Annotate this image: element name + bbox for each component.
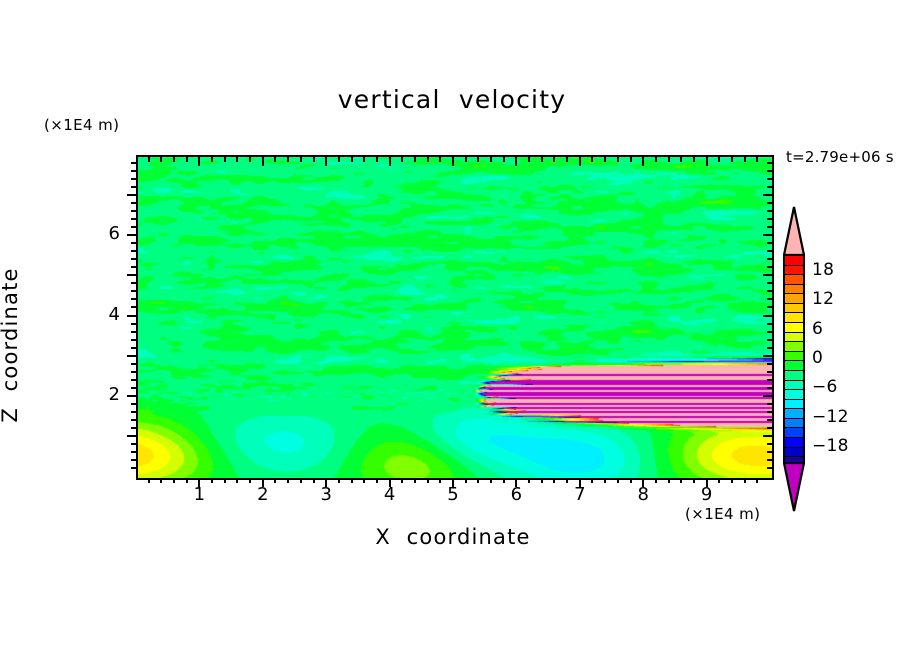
y-tick-minor xyxy=(131,306,136,308)
x-tick-top-minor xyxy=(693,157,695,162)
y-tick-right-minor xyxy=(767,387,772,389)
x-tick-top-minor xyxy=(630,157,632,162)
x-tick-top-minor xyxy=(274,157,276,162)
x-tick-top-major xyxy=(198,157,200,166)
y-tick-minor xyxy=(131,387,136,389)
y-tick-minor xyxy=(131,250,136,252)
x-tick-minor xyxy=(351,478,353,483)
x-tick-minor xyxy=(617,478,619,483)
y-tick-minor xyxy=(131,411,136,413)
x-tick-top-minor xyxy=(528,157,530,162)
page-title: vertical velocity xyxy=(0,85,904,114)
y-tick-minor xyxy=(131,347,136,349)
x-axis-unit-label: (×1E4 m) xyxy=(685,505,760,523)
colorbar-band xyxy=(785,342,803,352)
y-tick-right-minor xyxy=(767,170,772,172)
colorbar-band xyxy=(785,428,803,438)
y-tick-right-minor xyxy=(767,331,772,333)
y-tick-minor xyxy=(131,178,136,180)
colorbar xyxy=(783,206,805,512)
y-tick-right-minor xyxy=(767,178,772,180)
colorbar-band xyxy=(785,285,803,295)
y-tick-minor xyxy=(131,419,136,421)
x-tick-top-minor xyxy=(236,157,238,162)
y-tick-right-major xyxy=(763,274,772,276)
x-tick-minor xyxy=(148,478,150,483)
x-tick-top-minor xyxy=(477,157,479,162)
y-tick-right-minor xyxy=(767,306,772,308)
colorbar-ticklabel: 18 xyxy=(812,260,834,280)
y-tick-right-major xyxy=(763,435,772,437)
colorbar-ticklabel: −6 xyxy=(812,377,838,397)
y-tick-minor xyxy=(131,218,136,220)
x-tick-minor xyxy=(668,478,670,483)
y-tick-right-minor xyxy=(767,443,772,445)
x-tick-top-minor xyxy=(604,157,606,162)
colorbar-ticklabel: −18 xyxy=(812,436,849,456)
y-tick-major xyxy=(127,234,136,236)
y-ticklabel: 6 xyxy=(88,223,120,244)
y-tick-minor xyxy=(131,242,136,244)
colorbar-ticklabel: 12 xyxy=(812,289,834,309)
x-tick-top-minor xyxy=(503,157,505,162)
x-tick-top-minor xyxy=(731,157,733,162)
x-tick-top-major xyxy=(515,157,517,166)
contour-field-canvas xyxy=(138,157,772,478)
x-tick-top-major xyxy=(262,157,264,166)
x-tick-top-minor xyxy=(249,157,251,162)
y-tick-right-major xyxy=(763,234,772,236)
colorbar-band xyxy=(785,448,803,458)
x-tick-top-minor xyxy=(148,157,150,162)
x-tick-top-major xyxy=(389,157,391,166)
x-tick-top-minor xyxy=(401,157,403,162)
x-tick-minor xyxy=(591,478,593,483)
x-tick-top-major xyxy=(642,157,644,166)
x-tick-minor xyxy=(528,478,530,483)
x-tick-minor xyxy=(363,478,365,483)
y-tick-major xyxy=(127,395,136,397)
y-tick-right-minor xyxy=(767,250,772,252)
x-ticklabel: 6 xyxy=(496,484,536,505)
x-tick-top-major xyxy=(579,157,581,166)
y-tick-minor xyxy=(131,170,136,172)
x-tick-top-minor xyxy=(211,157,213,162)
x-tick-minor xyxy=(211,478,213,483)
colorbar-under-arrow-icon xyxy=(783,462,805,512)
y-tick-minor xyxy=(131,451,136,453)
x-tick-top-minor xyxy=(376,157,378,162)
x-tick-minor xyxy=(490,478,492,483)
colorbar-ticklabel: 0 xyxy=(812,348,823,368)
x-ticklabel: 8 xyxy=(623,484,663,505)
x-tick-minor xyxy=(477,478,479,483)
colorbar-band xyxy=(785,371,803,381)
y-ticklabel: 4 xyxy=(88,304,120,325)
x-ticklabel: 2 xyxy=(243,484,283,505)
y-tick-right-minor xyxy=(767,258,772,260)
colorbar-band xyxy=(785,266,803,276)
x-ticklabel: 5 xyxy=(433,484,473,505)
x-tick-minor xyxy=(427,478,429,483)
y-tick-right-major xyxy=(763,194,772,196)
x-tick-top-minor xyxy=(541,157,543,162)
x-tick-minor xyxy=(313,478,315,483)
colorbar-band xyxy=(785,438,803,448)
y-tick-right-minor xyxy=(767,202,772,204)
x-ticklabel: 9 xyxy=(687,484,727,505)
y-tick-major xyxy=(127,194,136,196)
x-tick-minor xyxy=(680,478,682,483)
x-tick-top-minor xyxy=(173,157,175,162)
x-tick-minor xyxy=(566,478,568,483)
x-tick-top-minor xyxy=(224,157,226,162)
y-tick-minor xyxy=(131,298,136,300)
x-tick-top-minor xyxy=(553,157,555,162)
y-tick-minor xyxy=(131,339,136,341)
colorbar-band xyxy=(785,313,803,323)
x-tick-top-minor xyxy=(490,157,492,162)
y-tick-right-minor xyxy=(767,451,772,453)
colorbar-band xyxy=(785,381,803,391)
y-tick-major xyxy=(127,435,136,437)
y-tick-minor xyxy=(131,162,136,164)
x-tick-minor xyxy=(604,478,606,483)
x-tick-minor xyxy=(338,478,340,483)
time-annotation: t=2.79e+06 s xyxy=(786,148,894,166)
colorbar-band xyxy=(785,390,803,400)
x-tick-minor xyxy=(300,478,302,483)
y-tick-right-minor xyxy=(767,266,772,268)
y-tick-minor xyxy=(131,459,136,461)
y-tick-minor xyxy=(131,467,136,469)
colorbar-band xyxy=(785,409,803,419)
y-tick-right-minor xyxy=(767,339,772,341)
y-tick-minor xyxy=(131,371,136,373)
y-tick-right-minor xyxy=(767,427,772,429)
x-tick-top-minor xyxy=(465,157,467,162)
y-tick-minor xyxy=(131,443,136,445)
x-tick-minor xyxy=(376,478,378,483)
colorbar-over-arrow-icon xyxy=(783,206,805,256)
y-tick-right-minor xyxy=(767,403,772,405)
x-tick-top-minor xyxy=(566,157,568,162)
y-tick-minor xyxy=(131,226,136,228)
x-tick-top-minor xyxy=(668,157,670,162)
plot-area xyxy=(136,155,774,480)
y-tick-right-minor xyxy=(767,242,772,244)
x-tick-minor xyxy=(274,478,276,483)
colorbar-band xyxy=(785,275,803,285)
x-tick-top-minor xyxy=(414,157,416,162)
x-tick-top-minor xyxy=(363,157,365,162)
x-ticklabel: 3 xyxy=(306,484,346,505)
y-tick-right-minor xyxy=(767,162,772,164)
y-tick-right-minor xyxy=(767,371,772,373)
y-axis-unit-label: (×1E4 m) xyxy=(44,116,119,134)
y-tick-minor xyxy=(131,290,136,292)
x-tick-top-minor xyxy=(718,157,720,162)
y-tick-minor xyxy=(131,427,136,429)
y-tick-minor xyxy=(131,323,136,325)
y-tick-minor xyxy=(131,186,136,188)
colorbar-band xyxy=(785,400,803,410)
x-tick-minor xyxy=(414,478,416,483)
x-tick-top-minor xyxy=(744,157,746,162)
x-tick-minor xyxy=(731,478,733,483)
colorbar-band xyxy=(785,352,803,362)
y-tick-major xyxy=(127,355,136,357)
x-tick-minor xyxy=(630,478,632,483)
x-tick-top-minor xyxy=(287,157,289,162)
colorbar-band xyxy=(785,294,803,304)
x-tick-minor xyxy=(439,478,441,483)
x-tick-minor xyxy=(401,478,403,483)
y-tick-minor xyxy=(131,266,136,268)
x-tick-top-major xyxy=(325,157,327,166)
y-tick-right-major xyxy=(763,355,772,357)
x-tick-top-minor xyxy=(313,157,315,162)
x-tick-top-minor xyxy=(617,157,619,162)
colorbar-band xyxy=(785,419,803,429)
y-tick-right-minor xyxy=(767,218,772,220)
y-tick-right-minor xyxy=(767,298,772,300)
x-tick-minor xyxy=(744,478,746,483)
x-tick-minor xyxy=(693,478,695,483)
y-tick-minor xyxy=(131,331,136,333)
y-tick-minor xyxy=(131,282,136,284)
x-tick-minor xyxy=(224,478,226,483)
x-tick-top-minor xyxy=(300,157,302,162)
y-tick-minor xyxy=(131,363,136,365)
x-tick-top-minor xyxy=(655,157,657,162)
x-axis-title: X coordinate xyxy=(136,525,770,549)
y-tick-right-minor xyxy=(767,290,772,292)
y-tick-minor xyxy=(131,379,136,381)
x-tick-minor xyxy=(160,478,162,483)
colorbar-band xyxy=(785,256,803,266)
y-tick-right-minor xyxy=(767,282,772,284)
x-tick-top-minor xyxy=(160,157,162,162)
x-tick-top-minor xyxy=(427,157,429,162)
y-tick-right-minor xyxy=(767,419,772,421)
y-tick-minor xyxy=(131,202,136,204)
y-tick-major xyxy=(127,274,136,276)
x-tick-minor xyxy=(553,478,555,483)
y-tick-right-minor xyxy=(767,226,772,228)
y-tick-right-major xyxy=(763,395,772,397)
x-tick-top-minor xyxy=(591,157,593,162)
x-tick-minor xyxy=(186,478,188,483)
colorbar-band xyxy=(785,323,803,333)
y-tick-right-minor xyxy=(767,323,772,325)
y-tick-minor xyxy=(131,403,136,405)
x-tick-minor xyxy=(503,478,505,483)
colorbar-ticklabel: −12 xyxy=(812,407,849,427)
colorbar-band xyxy=(785,333,803,343)
x-tick-top-minor xyxy=(756,157,758,162)
y-tick-major xyxy=(127,315,136,317)
y-tick-right-minor xyxy=(767,210,772,212)
x-ticklabel: 7 xyxy=(560,484,600,505)
x-tick-top-minor xyxy=(439,157,441,162)
x-tick-top-minor xyxy=(338,157,340,162)
x-ticklabel: 1 xyxy=(179,484,219,505)
x-tick-minor xyxy=(173,478,175,483)
y-tick-right-minor xyxy=(767,467,772,469)
x-tick-minor xyxy=(541,478,543,483)
y-tick-right-minor xyxy=(767,459,772,461)
y-tick-right-minor xyxy=(767,186,772,188)
x-tick-top-minor xyxy=(186,157,188,162)
x-tick-minor xyxy=(756,478,758,483)
colorbar-band xyxy=(785,361,803,371)
x-tick-minor xyxy=(236,478,238,483)
x-tick-minor xyxy=(465,478,467,483)
y-tick-right-minor xyxy=(767,347,772,349)
colorbar-bands xyxy=(783,254,805,464)
contour-plot-figure: vertical velocity (×1E4 m) t=2.79e+06 s … xyxy=(0,0,904,654)
y-tick-right-major xyxy=(763,315,772,317)
x-tick-minor xyxy=(287,478,289,483)
x-tick-minor xyxy=(655,478,657,483)
x-tick-top-minor xyxy=(680,157,682,162)
x-tick-top-major xyxy=(452,157,454,166)
x-tick-top-major xyxy=(706,157,708,166)
y-tick-right-minor xyxy=(767,379,772,381)
y-tick-minor xyxy=(131,210,136,212)
x-tick-top-minor xyxy=(351,157,353,162)
y-tick-minor xyxy=(131,258,136,260)
x-tick-minor xyxy=(718,478,720,483)
x-tick-minor xyxy=(249,478,251,483)
x-ticklabel: 4 xyxy=(370,484,410,505)
y-tick-right-minor xyxy=(767,363,772,365)
colorbar-band xyxy=(785,304,803,314)
y-tick-right-minor xyxy=(767,411,772,413)
colorbar-ticklabel: 6 xyxy=(812,319,823,339)
y-ticklabel: 2 xyxy=(88,384,120,405)
y-axis-title: Z coordinate xyxy=(0,235,22,455)
